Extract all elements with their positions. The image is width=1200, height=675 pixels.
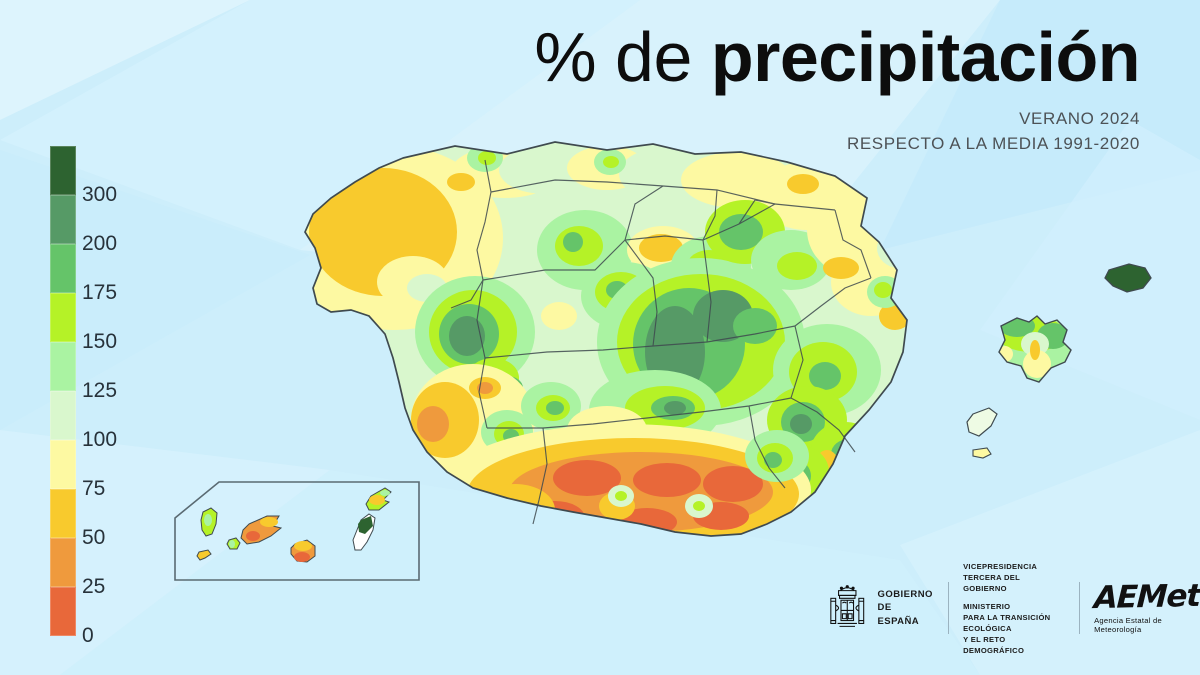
legend-tick-100: 100 bbox=[82, 428, 117, 452]
contour-band-200-300 bbox=[790, 414, 812, 434]
contour-band-175-200 bbox=[563, 232, 583, 252]
contour-band-150-175 bbox=[615, 491, 627, 501]
legend-swatch--300 bbox=[50, 146, 76, 195]
island-formentera[interactable] bbox=[973, 448, 991, 458]
contour-band-200-300 bbox=[449, 316, 485, 356]
contour-band-150-175 bbox=[693, 501, 705, 511]
island-ibiza[interactable] bbox=[967, 408, 997, 436]
legend-swatch-25-50 bbox=[50, 538, 76, 587]
contour-band-175-200 bbox=[809, 362, 841, 390]
subtitle-block: VERANO 2024 RESPECTO A LA MEDIA 1991-202… bbox=[534, 107, 1140, 156]
contour-band-150-175 bbox=[478, 151, 496, 165]
legend-tick-50: 50 bbox=[82, 526, 105, 550]
ministry-line2: TERCERA DEL GOBIERNO bbox=[963, 572, 1065, 594]
legend-swatch-75-100 bbox=[50, 440, 76, 489]
gobierno-line2: DE ESPAÑA bbox=[878, 601, 935, 628]
island-mallorca[interactable] bbox=[997, 315, 1071, 382]
title-bold-part: precipitación bbox=[711, 18, 1140, 96]
gobierno-line1: GOBIERNO bbox=[878, 588, 935, 601]
title-block: % de precipitación VERANO 2024 RESPECTO … bbox=[534, 22, 1140, 157]
gobierno-text: GOBIERNO DE ESPAÑA bbox=[878, 588, 935, 628]
contour-band-175-200 bbox=[764, 452, 782, 468]
island-menorca[interactable] bbox=[1105, 264, 1151, 292]
footer-divider-1 bbox=[948, 582, 949, 634]
aemet-logo[interactable]: AEMet Agencia Estatal de Meteorología bbox=[1094, 582, 1200, 634]
legend-tick-125: 125 bbox=[82, 379, 117, 403]
contour-band-25-50 bbox=[417, 406, 449, 442]
legend-tick-200: 200 bbox=[82, 232, 117, 256]
balearic-islands[interactable] bbox=[967, 264, 1151, 458]
contour-band-150-175 bbox=[777, 252, 817, 280]
ministry-line1: VICEPRESIDENCIA bbox=[963, 561, 1065, 572]
legend-swatch-150-175 bbox=[50, 293, 76, 342]
legend-swatch-200-300 bbox=[50, 195, 76, 244]
contour-band-0-25 bbox=[633, 463, 701, 497]
contour-band-175-200 bbox=[719, 214, 763, 250]
contour-band-25-50 bbox=[483, 500, 531, 532]
footer-divider-2 bbox=[1079, 582, 1080, 634]
subtitle-reference: RESPECTO A LA MEDIA 1991-2020 bbox=[534, 132, 1140, 157]
aemet-wordmark: AEMet bbox=[1093, 581, 1200, 614]
footer-logos: GOBIERNO DE ESPAÑA VICEPRESIDENCIA TERCE… bbox=[826, 572, 1200, 644]
contour-band-150-175 bbox=[874, 282, 892, 298]
legend-label-stack: 3002001751501251007550250 bbox=[82, 146, 152, 636]
canary-islands-inset[interactable] bbox=[175, 482, 419, 580]
legend-tick-175: 175 bbox=[82, 281, 117, 305]
contour-band-200-300 bbox=[664, 401, 686, 415]
legend-tick-300: 300 bbox=[82, 183, 117, 207]
contour-band-50-75 bbox=[787, 174, 819, 194]
legend-colorbar: 3002001751501251007550250 bbox=[50, 146, 76, 636]
legend-swatch-100-125 bbox=[50, 391, 76, 440]
contour-band-175-200 bbox=[733, 308, 777, 344]
legend-swatch-125-150 bbox=[50, 342, 76, 391]
legend-tick-150: 150 bbox=[82, 330, 117, 354]
contour-band-75-100 bbox=[541, 302, 577, 330]
contour-band-50-75 bbox=[823, 257, 859, 279]
ministry-text: VICEPRESIDENCIA TERCERA DEL GOBIERNO MIN… bbox=[963, 561, 1065, 656]
legend-swatch-0-25 bbox=[50, 587, 76, 636]
contour-band-50-75 bbox=[447, 173, 475, 191]
legend-swatch-175-200 bbox=[50, 244, 76, 293]
aemet-tagline: Agencia Estatal de Meteorología bbox=[1094, 616, 1200, 634]
legend-swatch-stack bbox=[50, 146, 76, 636]
legend-swatch-50-75 bbox=[50, 489, 76, 538]
title-light-part: % de bbox=[534, 18, 711, 96]
contour-band-175-200 bbox=[546, 401, 564, 415]
contour-band-150-175 bbox=[603, 156, 619, 168]
subtitle-season: VERANO 2024 bbox=[534, 107, 1140, 132]
ministry-line4: PARA LA TRANSICIÓN ECOLÓGICA bbox=[963, 612, 1065, 634]
legend-tick-75: 75 bbox=[82, 477, 105, 501]
page-title: % de precipitación bbox=[534, 22, 1140, 93]
gobierno-de-espana-logo: GOBIERNO DE ESPAÑA bbox=[826, 581, 934, 635]
legend-tick-25: 25 bbox=[82, 575, 105, 599]
contour-band-200-300 bbox=[844, 448, 862, 464]
ministry-line5: Y EL RETO DEMOGRÁFICO bbox=[963, 634, 1065, 656]
ministry-line3: MINISTERIO bbox=[963, 601, 1065, 612]
legend-tick-0: 0 bbox=[82, 624, 94, 648]
spain-coat-of-arms-icon bbox=[826, 581, 869, 635]
